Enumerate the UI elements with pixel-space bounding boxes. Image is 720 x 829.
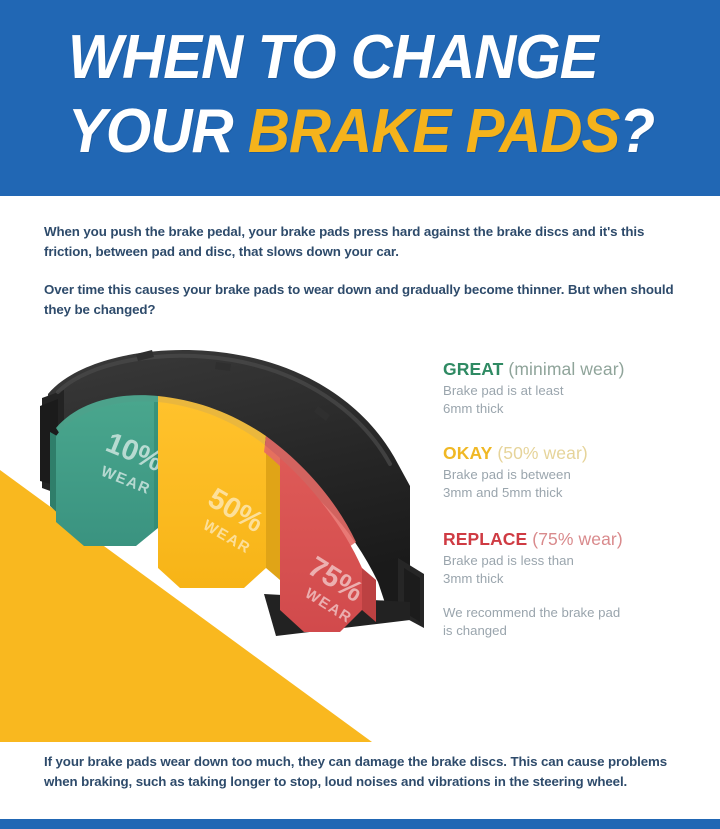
footer-band [0, 819, 720, 829]
legend-item-okay: OKAY (50% wear) Brake pad is between 3mm… [443, 442, 705, 501]
legend-paren-great: (minimal wear) [508, 359, 624, 379]
legend-item-replace: REPLACE (75% wear) Brake pad is less tha… [443, 528, 705, 639]
legend-body-replace-line2: 3mm thick [443, 570, 705, 588]
brake-pad-illustration: 10% WEAR 50% WEAR [18, 336, 438, 676]
legend-body-replace: Brake pad is less than 3mm thick [443, 552, 705, 587]
legend-item-great: GREAT (minimal wear) Brake pad is at lea… [443, 358, 705, 417]
page-title: WHEN TO CHANGE YOUR BRAKE PADS? [68, 22, 708, 168]
infographic-page: WHEN TO CHANGE YOUR BRAKE PADS? When you… [0, 0, 720, 829]
legend-body-great-line2: 6mm thick [443, 400, 705, 418]
legend-paren-replace: (75% wear) [532, 529, 622, 549]
title-brake-pads: BRAKE PADS [248, 97, 620, 166]
intro-text-block: When you push the brake pedal, your brak… [44, 222, 674, 319]
legend-keyword-okay: OKAY [443, 443, 492, 463]
header-banner: WHEN TO CHANGE YOUR BRAKE PADS? [0, 0, 720, 196]
legend-body-okay: Brake pad is between 3mm and 5mm thick [443, 466, 705, 501]
title-your: YOUR [68, 97, 248, 166]
legend-note-line2: is changed [443, 622, 705, 640]
legend-heading-replace: REPLACE (75% wear) [443, 528, 705, 550]
legend-keyword-replace: REPLACE [443, 529, 527, 549]
intro-paragraph-2: Over time this causes your brake pads to… [44, 280, 674, 319]
title-question-mark: ? [620, 97, 655, 166]
legend-body-okay-line2: 3mm and 5mm thick [443, 484, 705, 502]
title-line-2: YOUR BRAKE PADS? [68, 96, 670, 168]
legend-note-line1: We recommend the brake pad [443, 604, 705, 622]
legend-body-great-line1: Brake pad is at least [443, 382, 705, 400]
legend-body-great: Brake pad is at least 6mm thick [443, 382, 705, 417]
legend-list: GREAT (minimal wear) Brake pad is at lea… [443, 358, 705, 639]
legend-heading-great: GREAT (minimal wear) [443, 358, 705, 380]
footer-text-block: If your brake pads wear down too much, t… [44, 752, 684, 791]
legend-body-replace-line1: Brake pad is less than [443, 552, 705, 570]
title-line-1: WHEN TO CHANGE [68, 22, 670, 94]
pad-segment-great: 10% WEAR [50, 395, 167, 546]
legend-body-okay-line1: Brake pad is between [443, 466, 705, 484]
footer-paragraph: If your brake pads wear down too much, t… [44, 752, 684, 791]
legend-keyword-great: GREAT [443, 359, 503, 379]
legend-recommendation-note: We recommend the brake pad is changed [443, 604, 705, 639]
intro-paragraph-1: When you push the brake pedal, your brak… [44, 222, 674, 261]
legend-paren-okay: (50% wear) [497, 443, 587, 463]
legend-heading-okay: OKAY (50% wear) [443, 442, 705, 464]
